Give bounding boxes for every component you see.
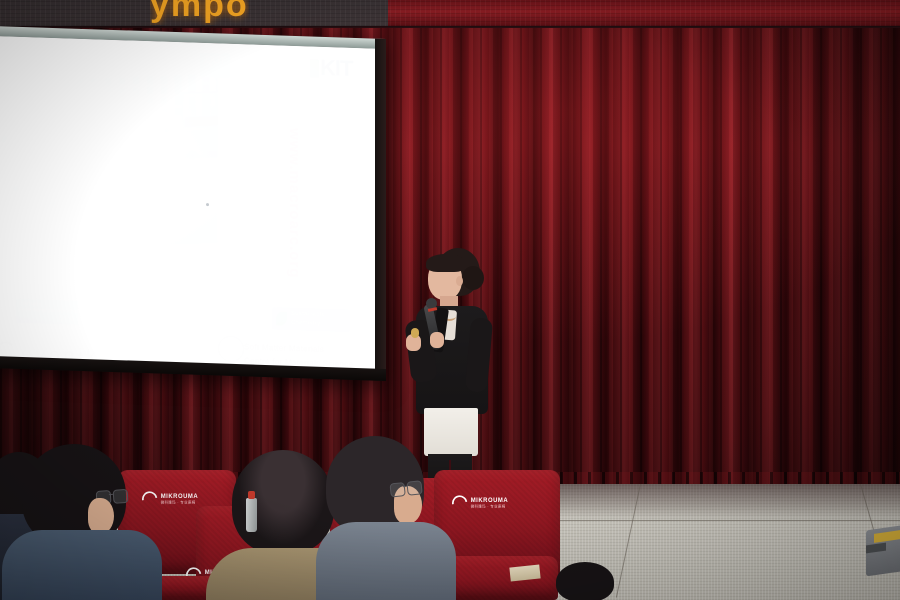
glasses-lens-right (406, 480, 422, 495)
screen-surface: QUT KIT www.macroarc.org Deutsche Forsch… (0, 36, 378, 371)
university-seal-icon (218, 335, 244, 362)
presenter-thumb (411, 328, 419, 338)
qut-logo-text: QUT (200, 53, 230, 67)
slide-photo (0, 73, 218, 252)
projection-screen: QUT KIT www.macroarc.org Deutsche Forsch… (0, 26, 386, 381)
dfg-logo-mark: DFG (59, 315, 75, 323)
floor-seam (560, 520, 900, 521)
kit-logo: KIT (310, 54, 352, 81)
sustainable-logo-line1: Sustainable (291, 311, 325, 318)
slide-content: QUT KIT www.macroarc.org Deutsche Forsch… (0, 36, 378, 371)
water-bottle[interactable] (246, 498, 257, 532)
screen-right-edge (375, 39, 386, 381)
audience-member-2-torso (2, 530, 162, 600)
sustainable-chemistry-logo: Sustainable Chemistry (272, 307, 350, 332)
audience-member-4-torso (316, 522, 456, 600)
audience-member-5-hair (556, 562, 614, 600)
kit-logo-bar (310, 59, 319, 77)
leaf-icon (276, 311, 287, 325)
slide-url: www.macroarc.org (286, 128, 303, 279)
audience-member-2-face (88, 498, 114, 534)
bottle-cap (248, 491, 255, 499)
presenter-hair-front (426, 254, 466, 272)
sustainable-logo-line2: Chemistry (291, 320, 320, 327)
presenter-skirt (424, 408, 478, 456)
audience-member-5-head (556, 562, 614, 600)
kit-logo-text: KIT (320, 55, 352, 81)
dfg-logo-line2: Forschungsgemeinschaft (19, 307, 80, 315)
audience-member-4-glasses (389, 480, 420, 495)
dfg-logo: Deutsche Forschungsgemeinschaft DFG (16, 299, 78, 325)
qut-logo: QUT (200, 53, 230, 78)
lecture-hall-photo: ympo QUT (0, 0, 900, 600)
screen-dust-speck (206, 203, 209, 206)
presenter-hand-holding-mic (430, 332, 444, 348)
glasses-lens-left (389, 482, 405, 497)
banner-headline-text: ympo (150, 0, 249, 25)
glasses-lens-right (113, 489, 129, 504)
slide-photo-kiosk-band (185, 116, 218, 126)
slide-photo-kiosk (182, 91, 218, 159)
slide-caption-line1: Soft Matter Materials (244, 342, 324, 354)
presenter-ear (456, 276, 463, 286)
presenter-hair-bun (462, 266, 484, 290)
